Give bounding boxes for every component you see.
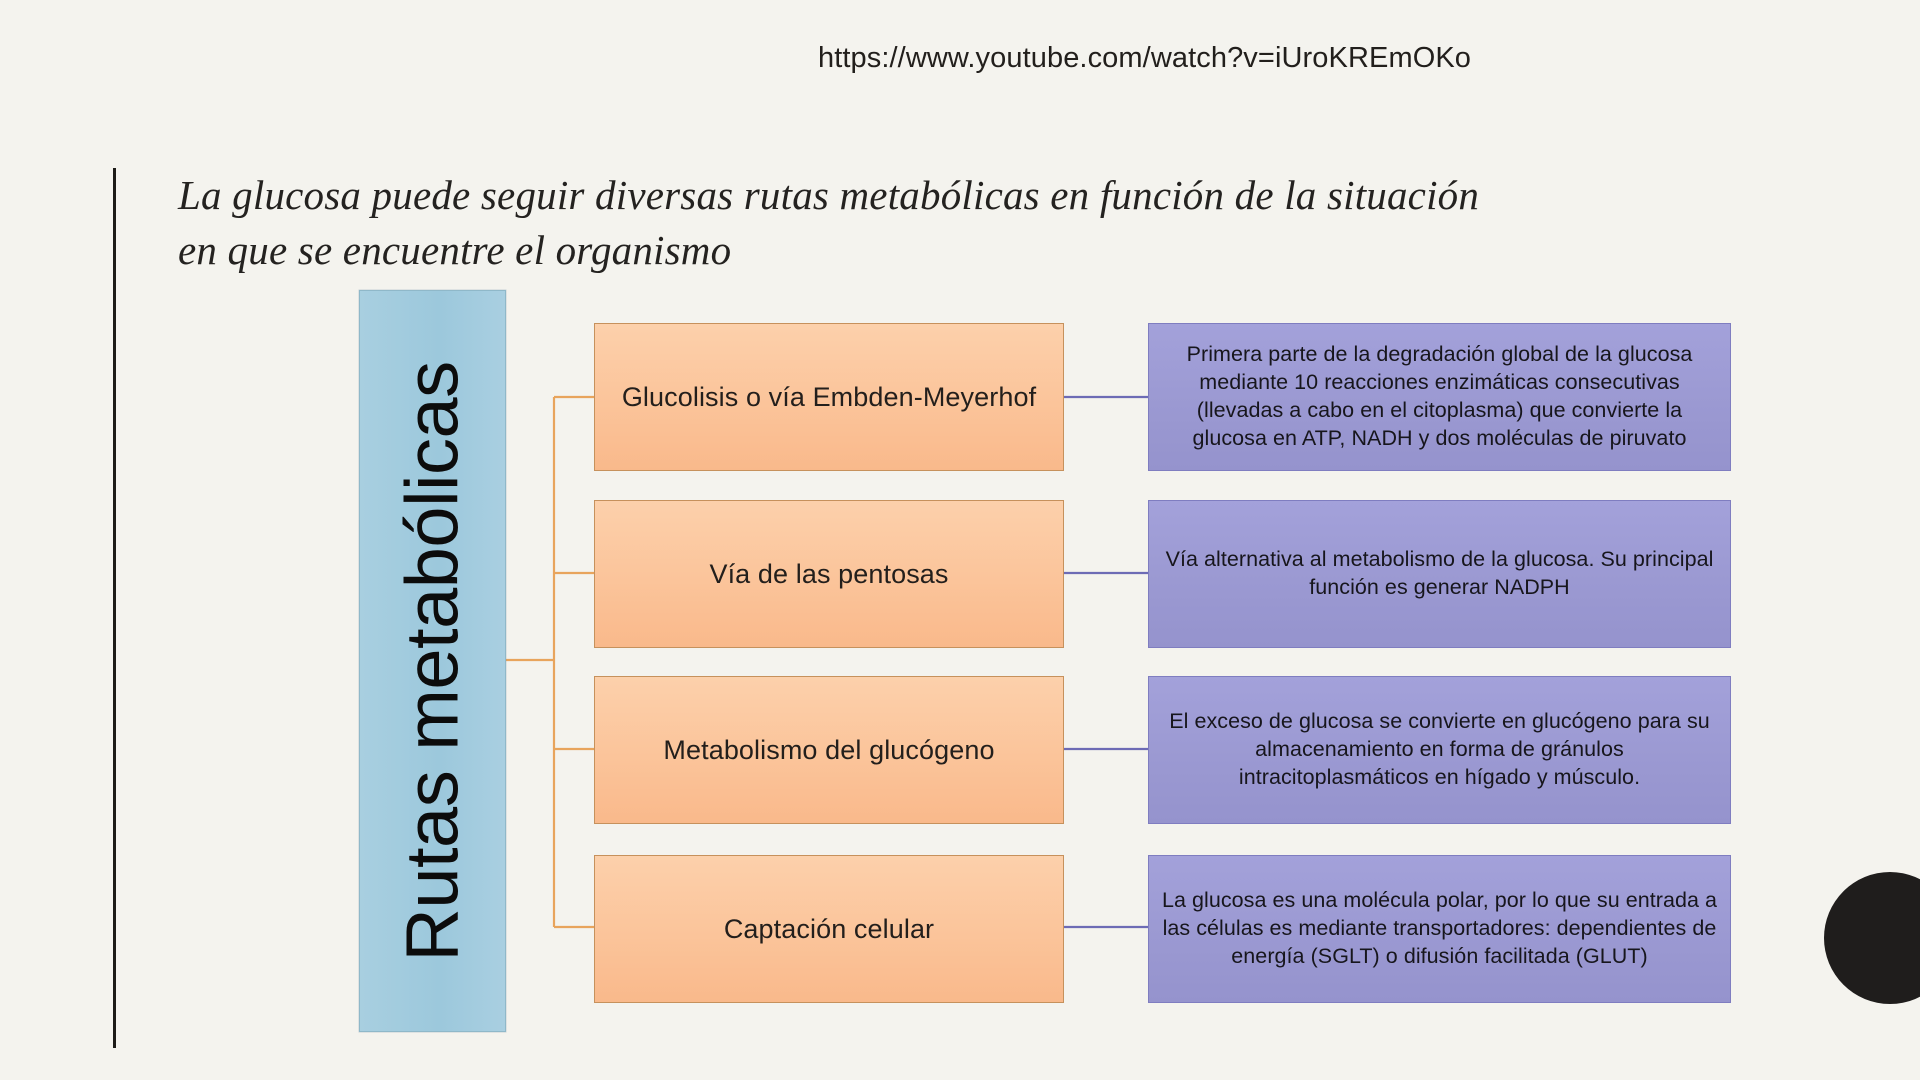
- leaf-node-2[interactable]: Vía alternativa al metabolismo de la glu…: [1148, 500, 1731, 648]
- leaf-node-1[interactable]: Primera parte de la degradación global d…: [1148, 323, 1731, 471]
- mid-node-4[interactable]: Captación celular: [594, 855, 1064, 1003]
- mid-node-3-label: Metabolismo del glucógeno: [649, 735, 1008, 766]
- mid-node-4-label: Captación celular: [710, 914, 948, 945]
- leaf-node-4[interactable]: La glucosa es una molécula polar, por lo…: [1148, 855, 1731, 1003]
- leaf-node-4-label: La glucosa es una molécula polar, por lo…: [1149, 887, 1730, 971]
- root-node-rutas-metabolicas[interactable]: Rutas metabólicas: [359, 290, 506, 1032]
- leaf-node-3[interactable]: El exceso de glucosa se convierte en glu…: [1148, 676, 1731, 824]
- leaf-node-2-label: Vía alternativa al metabolismo de la glu…: [1149, 546, 1730, 602]
- mid-node-1-label: Glucolisis o vía Embden-Meyerhof: [608, 382, 1050, 413]
- mid-node-1[interactable]: Glucolisis o vía Embden-Meyerhof: [594, 323, 1064, 471]
- mid-node-2[interactable]: Vía de las pentosas: [594, 500, 1064, 648]
- root-node-label: Rutas metabólicas: [390, 361, 475, 961]
- slide-canvas: https://www.youtube.com/watch?v=iUroKREm…: [0, 0, 1920, 1080]
- mid-node-2-label: Vía de las pentosas: [695, 559, 962, 590]
- leaf-node-1-label: Primera parte de la degradación global d…: [1149, 341, 1730, 453]
- mid-node-3[interactable]: Metabolismo del glucógeno: [594, 676, 1064, 824]
- metabolic-routes-diagram: Rutas metabólicas Glucolisis o vía Embde…: [0, 0, 1920, 1080]
- leaf-node-3-label: El exceso de glucosa se convierte en glu…: [1149, 708, 1730, 792]
